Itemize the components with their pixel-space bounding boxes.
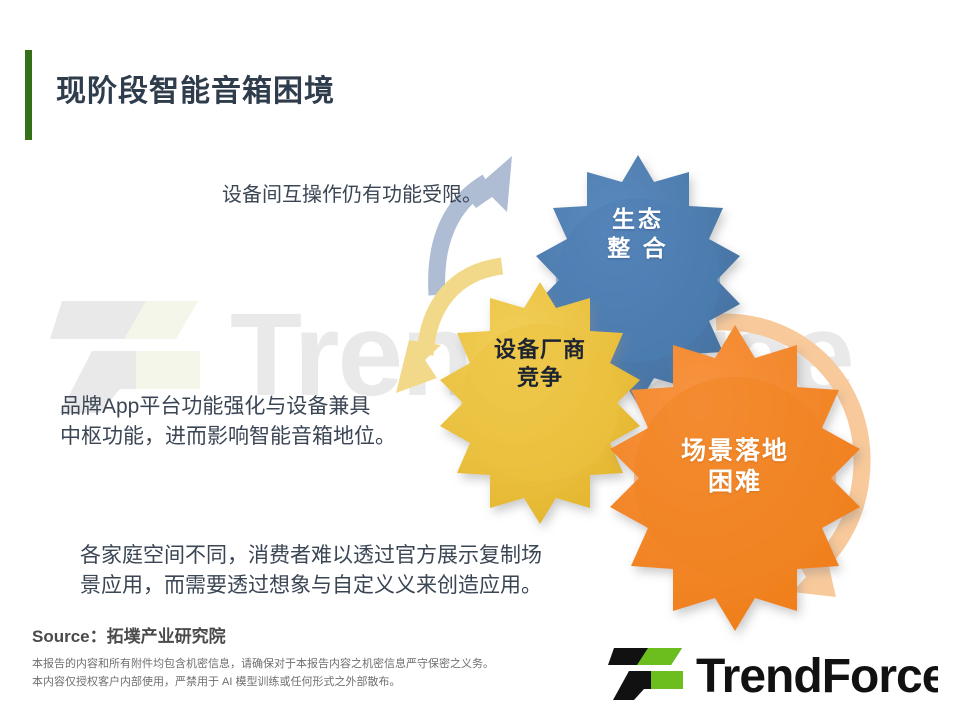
- annotation-scene-landing: 各家庭空间不同，消费者难以透过官方展示复制场 景应用，而需要透过想象与自定义义来…: [80, 541, 542, 602]
- annotation-app-platform: 品牌App平台功能强化与设备兼具 中枢功能，进而影响智能音箱地位。: [60, 392, 396, 453]
- arrow-eco-icon: [437, 156, 512, 295]
- trendforce-logo-mark-icon: [608, 648, 683, 700]
- gear-label-scene: 场景落地 困难: [655, 436, 815, 499]
- gear-vendor-shape: [440, 282, 640, 524]
- gear-vendor: [440, 282, 640, 524]
- page-title: 现阶段智能音箱困境: [56, 66, 335, 110]
- trendforce-logo-text: TrendForce: [696, 650, 938, 701]
- trendforce-logo: TrendForce: [608, 645, 938, 701]
- slide-canvas: 现阶段智能音箱困境 TrendForce: [0, 0, 960, 720]
- annotation-interop: 设备间互操作仍有功能受限。: [222, 181, 482, 210]
- title-accent-bar: [25, 50, 32, 140]
- source-label: Source：拓墣产业研究院: [32, 622, 226, 647]
- gear-label-vendor: 设备厂商 竞争: [470, 336, 610, 391]
- gear-label-eco: 生态 整 合: [578, 205, 698, 263]
- disclaimer-text: 本报告的内容和所有附件均包含机密信息，请确保对于本报告内容之机密信息严守保密之义…: [32, 655, 494, 691]
